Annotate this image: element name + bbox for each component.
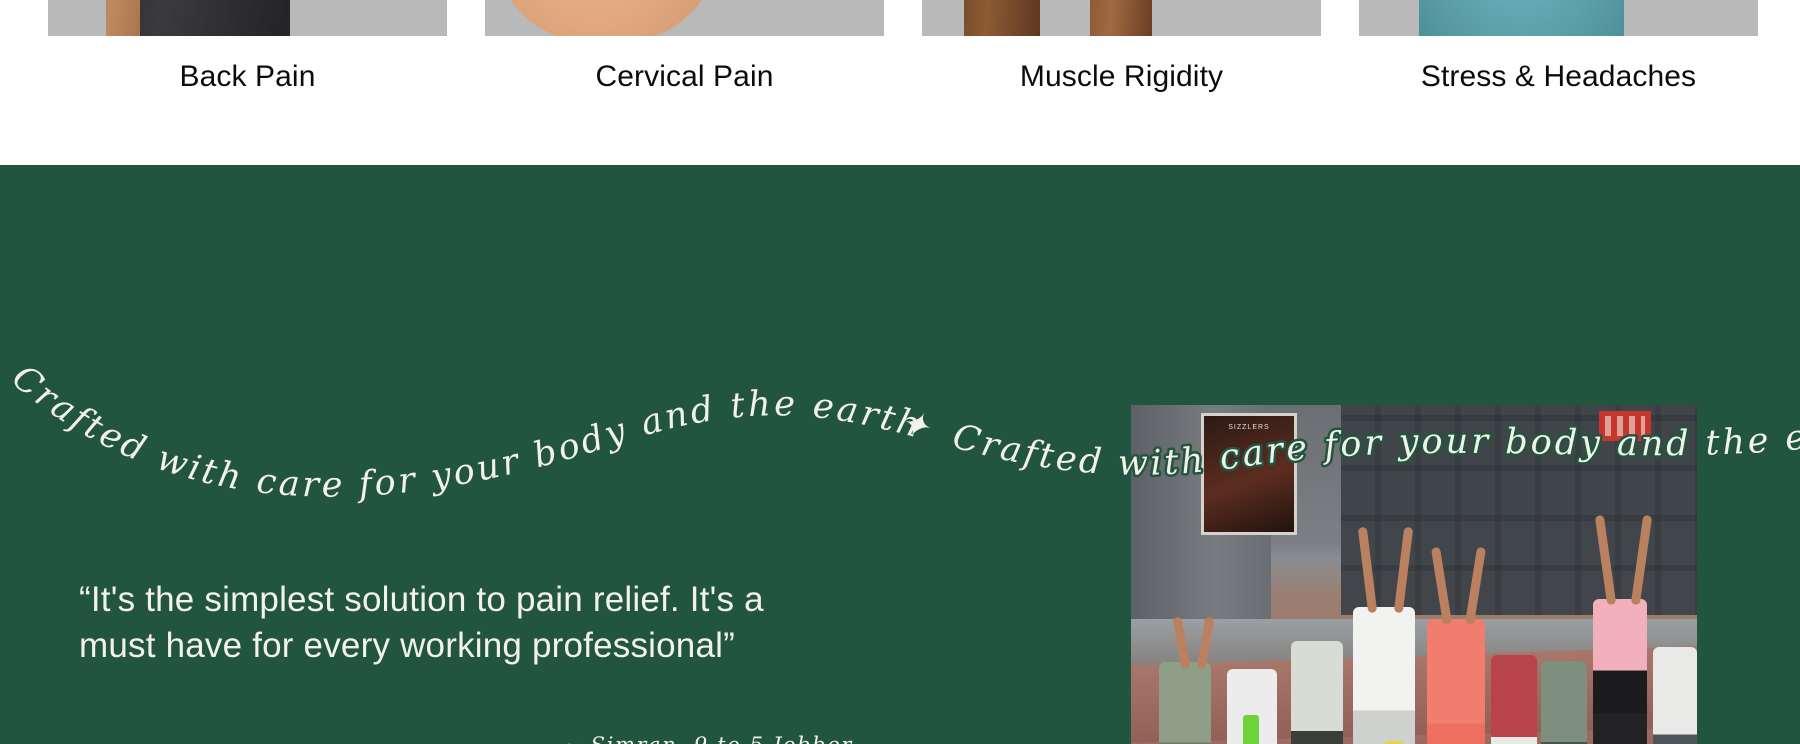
yoga-session-photo: SIZZLERS xyxy=(1131,405,1697,744)
participant xyxy=(1541,661,1587,744)
street-poster: SIZZLERS xyxy=(1201,413,1297,535)
pain-card-label: Cervical Pain xyxy=(595,59,773,95)
pain-card-muscle-rigidity[interactable]: Muscle Rigidity xyxy=(922,0,1321,95)
stress-headaches-image xyxy=(1359,0,1758,36)
pain-points-section: Back Pain Cervical Pain Muscle Rigidity … xyxy=(0,0,1800,165)
pain-card-label: Muscle Rigidity xyxy=(1020,59,1223,95)
marquee-text-first: Crafted with care for your body and the … xyxy=(4,357,927,505)
pain-points-card-row: Back Pain Cervical Pain Muscle Rigidity … xyxy=(48,0,1752,95)
pain-card-stress-headaches[interactable]: Stress & Headaches xyxy=(1359,0,1758,95)
pain-card-cervical-pain[interactable]: Cervical Pain xyxy=(485,0,884,95)
participant xyxy=(1159,662,1211,744)
back-pain-image xyxy=(48,0,447,36)
participant xyxy=(1291,641,1343,744)
poster-text: SIZZLERS xyxy=(1204,424,1294,431)
water-bottle xyxy=(1243,715,1259,744)
participant xyxy=(1491,655,1537,744)
participant xyxy=(1353,607,1415,744)
testimonial-section: SIZZLERS xyxy=(0,165,1800,744)
muscle-rigidity-image xyxy=(922,0,1321,36)
pain-card-label: Back Pain xyxy=(180,59,316,95)
sparkle-icon: ✦ xyxy=(895,402,936,449)
cervical-pain-image xyxy=(485,0,884,36)
testimonial-attribution: ~ Simran, 9 to 5 Jobber xyxy=(548,733,868,744)
marquee-phrase-1: Crafted with care for your body and the … xyxy=(4,357,927,505)
participant xyxy=(1427,619,1485,744)
participant xyxy=(1593,599,1647,744)
pain-card-label: Stress & Headaches xyxy=(1421,59,1696,95)
red-signboard xyxy=(1599,411,1651,441)
marquee-separator-star: ✦ xyxy=(895,402,936,449)
pain-card-back-pain[interactable]: Back Pain xyxy=(48,0,447,95)
participant xyxy=(1653,647,1697,744)
testimonial-quote: “It's the simplest solution to pain reli… xyxy=(79,577,839,669)
